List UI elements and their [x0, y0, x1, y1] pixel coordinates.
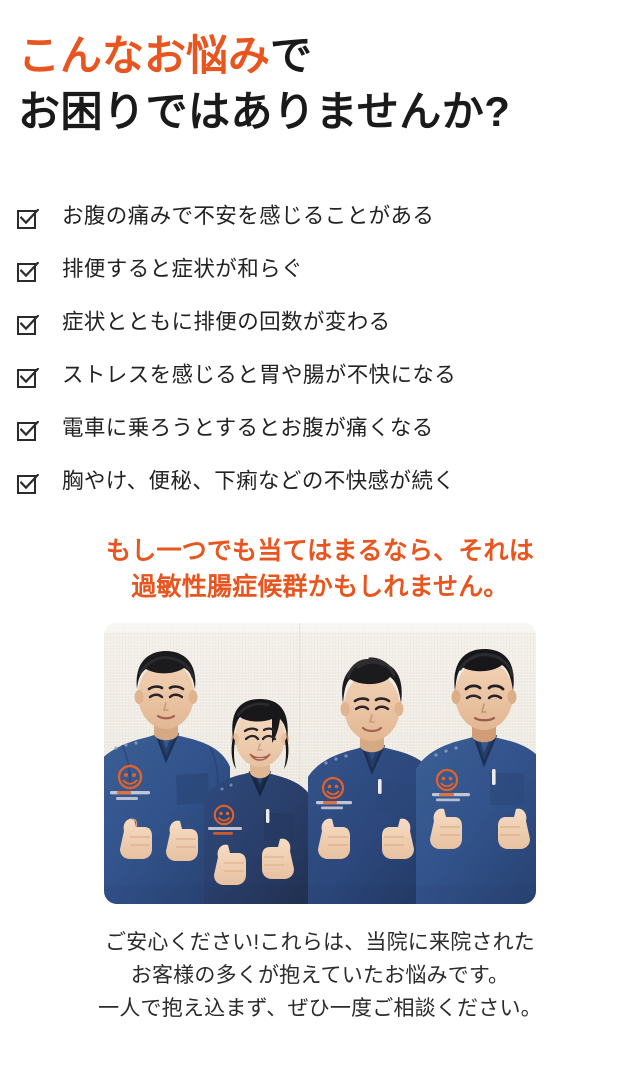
- page-title: こんなお悩みで お困りではありませんか?: [18, 28, 622, 140]
- checkbox-checked-icon: [17, 313, 38, 334]
- checkbox-checked-icon: [17, 472, 38, 493]
- checkbox-checked-icon: [17, 366, 38, 387]
- checkbox-checked-icon: [17, 260, 38, 281]
- list-item: お腹の痛みで不安を感じることがある: [17, 190, 623, 243]
- list-item-label: 電車に乗ろうとするとお腹が痛くなる: [62, 418, 434, 440]
- list-item: 症状とともに排便の回数が変わる: [17, 296, 623, 349]
- reassurance-caption: ご安心ください!これらは、当院に来院された お客様の多くが抱えていたお悩みです。…: [0, 926, 640, 1025]
- list-item-label: お腹の痛みで不安を感じることがある: [62, 206, 434, 228]
- list-item: ストレスを感じると胃や腸が不快になる: [17, 349, 623, 402]
- page-title-line-1: こんなお悩みで: [18, 28, 622, 84]
- list-item-label: 胸やけ、便秘、下痢などの不快感が続く: [62, 471, 455, 493]
- caption-line-1: ご安心ください!これらは、当院に来院された: [0, 926, 640, 959]
- staff-photo: [104, 623, 536, 904]
- list-item: 電車に乗ろうとするとお腹が痛くなる: [17, 402, 623, 455]
- checkbox-checked-icon: [17, 419, 38, 440]
- caption-line-2: お客様の多くが抱えていたお悩みです。: [0, 959, 640, 992]
- landing-section: こんなお悩みで お困りではありませんか? お腹の痛みで不安を感じることがある 排…: [0, 0, 640, 1076]
- page-title-line-2: お困りではありませんか?: [18, 84, 622, 140]
- checkbox-checked-icon: [17, 207, 38, 228]
- list-item: 排便すると症状が和らぐ: [17, 243, 623, 296]
- emphasis-line-2: 過敏性腸症候群かもしれません。: [0, 569, 640, 605]
- symptom-checklist: お腹の痛みで不安を感じることがある 排便すると症状が和らぐ 症状とともに排便の回…: [17, 190, 623, 508]
- list-item: 胸やけ、便秘、下痢などの不快感が続く: [17, 455, 623, 508]
- list-item-label: ストレスを感じると胃や腸が不快になる: [62, 365, 456, 387]
- emphasis-message: もし一つでも当てはまるなら、それは 過敏性腸症候群かもしれません。: [0, 533, 640, 605]
- page-title-accent: こんなお悩み: [18, 32, 270, 79]
- caption-line-3: 一人で抱え込まず、ぜひ一度ご相談ください。: [0, 992, 640, 1025]
- page-title-line-1-suffix: で: [270, 32, 312, 79]
- list-item-label: 症状とともに排便の回数が変わる: [62, 312, 391, 334]
- emphasis-line-1: もし一つでも当てはまるなら、それは: [0, 533, 640, 569]
- list-item-label: 排便すると症状が和らぐ: [62, 259, 303, 281]
